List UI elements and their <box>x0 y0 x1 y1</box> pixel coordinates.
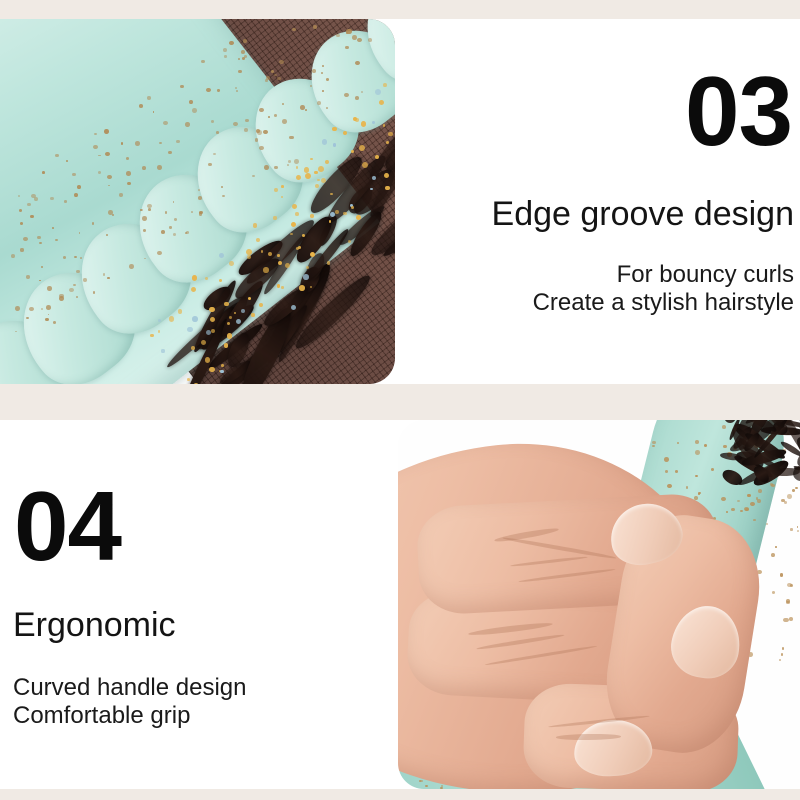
hand-holding-handle-photo <box>398 420 800 789</box>
speckle <box>361 91 363 93</box>
hair-sparkle <box>194 383 197 384</box>
bottom-separator-band <box>0 789 800 800</box>
hair-sparkle <box>296 166 298 168</box>
speckle <box>322 90 324 92</box>
hair-sparkle <box>187 378 190 381</box>
speckle <box>64 200 67 203</box>
hair-sparkle <box>263 267 268 272</box>
speckle <box>265 79 268 82</box>
description-line: Comfortable grip <box>13 702 247 730</box>
photo-scene-top <box>0 19 395 384</box>
speckle <box>119 193 123 196</box>
speckle <box>143 229 146 232</box>
speckle <box>287 164 289 166</box>
speckle <box>224 55 226 57</box>
speckle <box>37 236 41 240</box>
hand <box>398 420 800 789</box>
speckle <box>357 38 362 43</box>
speckle <box>108 210 113 215</box>
section-number-04: 04 <box>14 486 121 566</box>
speckle <box>244 128 248 132</box>
hair-sparkle <box>375 89 381 95</box>
hair-sparkle <box>355 118 359 122</box>
section-03-row: 03 Edge groove design For bouncy curls C… <box>0 19 800 384</box>
hair-sparkle <box>169 316 174 321</box>
speckle <box>274 166 277 169</box>
speckle <box>39 242 42 245</box>
hair-sparkle <box>310 214 314 218</box>
speckle <box>235 87 237 89</box>
speckle <box>223 48 227 52</box>
speckle <box>255 138 259 141</box>
hair-sparkle <box>329 220 331 222</box>
hair-sparkle <box>299 285 305 291</box>
photo-scene-bottom <box>398 420 800 789</box>
speckle <box>72 173 76 176</box>
hair-sparkle <box>383 83 387 87</box>
hair-sparkle <box>333 143 336 146</box>
speckle <box>157 165 162 170</box>
speckle <box>345 46 348 49</box>
hair-sparkle <box>191 287 196 292</box>
speckle <box>107 277 109 279</box>
hair-sparkle <box>277 254 280 257</box>
speckle <box>69 288 74 292</box>
speckle <box>142 216 147 220</box>
speckle <box>185 232 187 234</box>
speckle <box>20 248 24 251</box>
hair-sparkle <box>281 286 283 288</box>
hair-sparkle <box>246 249 252 255</box>
speckle <box>168 151 172 154</box>
hair-sparkle <box>322 139 328 145</box>
speckle <box>263 130 268 134</box>
speckle <box>259 146 264 150</box>
speckle <box>312 69 316 73</box>
speckle <box>140 209 142 211</box>
speckle <box>217 89 219 91</box>
speckle <box>52 227 54 229</box>
speckle <box>294 159 299 164</box>
section-headline-03: Edge groove design <box>492 197 794 233</box>
speckle <box>282 119 287 124</box>
hair-sparkle <box>192 316 198 322</box>
description-line: For bouncy curls <box>533 261 794 289</box>
hair-sparkle <box>361 121 367 127</box>
speckle <box>139 104 143 108</box>
speckle <box>245 119 248 122</box>
speckle <box>191 211 193 213</box>
speckle <box>147 96 151 99</box>
speckle <box>27 203 30 206</box>
hair-sparkle <box>325 160 329 164</box>
hair-sparkle <box>384 173 389 178</box>
speckle <box>83 278 87 281</box>
speckle <box>289 136 293 140</box>
hair-sparkle <box>224 343 228 347</box>
speckle <box>313 25 317 29</box>
hair-sparkle <box>295 212 299 216</box>
hair-sparkle <box>248 297 251 300</box>
speckle <box>41 266 43 267</box>
speckle <box>103 273 106 275</box>
speckle <box>216 131 219 134</box>
hair-sparkle <box>221 364 224 367</box>
middle-separator-band <box>0 384 800 420</box>
speckle <box>29 307 34 311</box>
hair-sparkle <box>158 319 161 322</box>
speckle <box>26 275 30 278</box>
hair-sparkle <box>277 284 280 287</box>
hair-sparkle <box>178 309 182 313</box>
speckle <box>282 103 284 105</box>
hair-sparkle <box>343 212 347 216</box>
speckle <box>233 122 238 126</box>
speckle <box>126 171 131 175</box>
hair-sparkle <box>161 349 164 352</box>
speckle <box>93 291 96 293</box>
hair-sparkle <box>241 309 245 313</box>
hair-sparkle <box>314 171 317 174</box>
speckle <box>208 163 212 166</box>
hair-sparkle <box>298 246 301 249</box>
speckle <box>41 308 43 310</box>
description-line: Curved handle design <box>13 674 247 702</box>
hair-sparkle <box>362 162 368 168</box>
hair-sparkle <box>224 302 228 306</box>
speckle <box>279 60 284 65</box>
speckle <box>23 237 28 241</box>
speckle <box>222 195 225 197</box>
hair-sparkle <box>234 312 236 314</box>
speckle <box>42 171 45 174</box>
speckle <box>47 286 52 290</box>
speckle <box>55 154 58 157</box>
speckle <box>264 165 269 169</box>
hair-sparkle <box>302 234 305 237</box>
hair-sparkle <box>273 216 276 219</box>
speckle <box>198 189 200 191</box>
speckle <box>174 218 177 221</box>
speckle <box>53 321 56 324</box>
speckle <box>305 109 307 111</box>
hair-sparkle <box>303 274 309 280</box>
description-line: Create a stylish hairstyle <box>533 289 794 317</box>
hair-sparkle <box>206 330 211 335</box>
hair-sparkle <box>268 252 272 256</box>
speckle <box>211 120 214 123</box>
brush-teeth-on-hair-photo <box>0 19 395 384</box>
speckle <box>142 166 146 170</box>
speckle <box>107 175 112 179</box>
section-description-03: For bouncy curls Create a stylish hairst… <box>533 261 794 318</box>
speckle <box>63 256 66 259</box>
speckle <box>173 233 176 236</box>
hair-sparkle <box>372 121 375 124</box>
hair-sparkle <box>219 253 224 258</box>
hair-sparkle <box>321 178 326 183</box>
hair-sparkle <box>210 317 215 322</box>
speckle <box>213 153 215 155</box>
hair-sparkle <box>285 263 290 268</box>
speckle <box>77 185 81 189</box>
section-04-text: 04 Ergonomic Curved handle design Comfor… <box>0 420 395 789</box>
speckle <box>45 318 49 321</box>
hair-sparkle <box>274 188 278 192</box>
speckle <box>135 141 140 145</box>
speckle <box>326 107 328 109</box>
section-description-04: Curved handle design Comfortable grip <box>13 674 247 731</box>
hair-sparkle <box>375 155 379 159</box>
hair-sparkle <box>351 206 354 209</box>
infographic-page: 03 Edge groove design For bouncy curls C… <box>0 0 800 800</box>
hair-sparkle <box>229 261 234 266</box>
speckle <box>176 140 180 143</box>
hair-sparkle <box>158 330 160 332</box>
speckle <box>271 70 274 73</box>
speckle <box>352 35 357 39</box>
speckle <box>243 39 248 43</box>
hair-sparkle <box>253 223 258 228</box>
speckle <box>104 129 109 133</box>
hair-sparkle <box>187 327 192 332</box>
section-headline-04: Ergonomic <box>13 608 176 644</box>
section-number-03: 03 <box>685 71 792 151</box>
speckle <box>59 296 64 301</box>
section-03-text: 03 Edge groove design For bouncy curls C… <box>400 19 800 384</box>
hair-sparkle <box>327 261 330 264</box>
hair-sparkle <box>317 179 319 181</box>
section-04-row: 04 Ergonomic Curved handle design Comfor… <box>0 420 800 789</box>
speckle <box>46 305 51 309</box>
speckle <box>19 209 22 212</box>
hair-sparkle <box>236 319 241 324</box>
speckle <box>256 129 260 133</box>
speckle <box>94 133 97 135</box>
speckle <box>98 171 101 174</box>
speckle <box>169 226 172 228</box>
hair-sparkle <box>290 233 293 236</box>
hair-sparkle <box>251 313 255 317</box>
speckle <box>93 145 98 149</box>
speckle <box>185 122 190 126</box>
speckle <box>15 306 20 310</box>
speckle <box>76 296 78 298</box>
top-separator-band <box>0 0 800 19</box>
hair-sparkle <box>305 173 311 179</box>
speckle <box>252 175 254 177</box>
speckle <box>157 251 161 255</box>
